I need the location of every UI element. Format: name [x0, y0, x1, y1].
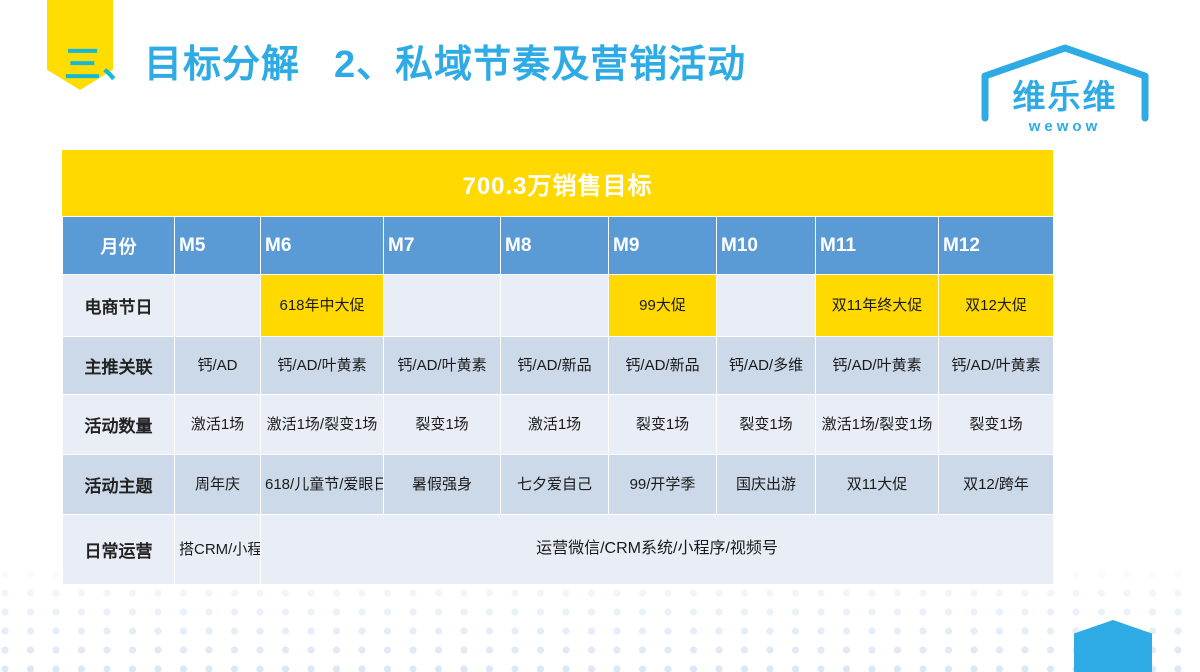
- table-row: 活动数量 激活1场 激活1场/裂变1场 裂变1场 激活1场 裂变1场 裂变1场 …: [63, 395, 1054, 455]
- cell-theme-m12: 双12/跨年: [939, 455, 1054, 515]
- cell-count-m12: 裂变1场: [939, 395, 1054, 455]
- cell-theme-m7: 暑假强身: [384, 455, 501, 515]
- table-row: 主推关联 钙/AD 钙/AD/叶黄素 钙/AD/叶黄素 钙/AD/新品 钙/AD…: [63, 337, 1054, 395]
- page-title: 三、 目标分解 2、私域节奏及营销活动: [64, 33, 746, 88]
- cell-festival-m6: 618年中大促: [261, 275, 384, 337]
- cell-count-m6: 激活1场/裂变1场: [261, 395, 384, 455]
- column-header-m8: M8: [501, 217, 609, 275]
- cell-theme-m10: 国庆出游: [717, 455, 816, 515]
- house-mark-decoration: [1074, 620, 1152, 672]
- table-header-row: 月份 M5 M6 M7 M8 M9 M10 M11 M12: [63, 217, 1054, 275]
- column-header-m5: M5: [175, 217, 261, 275]
- cell-festival-m8: [501, 275, 609, 337]
- row-label-main-product: 主推关联: [63, 337, 175, 395]
- column-header-m10: M10: [717, 217, 816, 275]
- schedule-table-container: 700.3万销售目标 月份 M5 M6 M7 M8 M9 M10 M11 M12…: [62, 150, 1053, 585]
- cell-count-m9: 裂变1场: [609, 395, 717, 455]
- cell-theme-m9: 99/开学季: [609, 455, 717, 515]
- row-label-daily-operation: 日常运营: [63, 515, 175, 585]
- section-subtitle: 2、私域节奏及营销活动: [334, 33, 746, 88]
- cell-festival-m5: [175, 275, 261, 337]
- column-header-m9: M9: [609, 217, 717, 275]
- cell-product-m7: 钙/AD/叶黄素: [384, 337, 501, 395]
- cell-theme-m5: 周年庆: [175, 455, 261, 515]
- column-header-m11: M11: [816, 217, 939, 275]
- cell-festival-m11: 双11年终大促: [816, 275, 939, 337]
- marketing-schedule-table: 月份 M5 M6 M7 M8 M9 M10 M11 M12 电商节日 618年中…: [62, 216, 1054, 585]
- cell-product-m8: 钙/AD/新品: [501, 337, 609, 395]
- section-number: 三、: [64, 34, 140, 88]
- cell-count-m11: 激活1场/裂变1场: [816, 395, 939, 455]
- cell-ops-m5: 搭CRM/小程序: [175, 515, 261, 585]
- cell-count-m7: 裂变1场: [384, 395, 501, 455]
- cell-product-m12: 钙/AD/叶黄素: [939, 337, 1054, 395]
- column-header-month-label: 月份: [63, 217, 175, 275]
- cell-festival-m10: [717, 275, 816, 337]
- table-row: 日常运营 搭CRM/小程序 运营微信/CRM系统/小程序/视频号: [63, 515, 1054, 585]
- logo-brand-en: wewow: [975, 118, 1155, 135]
- cell-ops-merged: 运营微信/CRM系统/小程序/视频号: [261, 515, 1054, 585]
- logo-brand-cn: 维乐维: [975, 70, 1155, 118]
- sales-target-text: 700.3万销售目标: [462, 166, 652, 201]
- cell-theme-m6: 618/儿童节/爱眼日: [261, 455, 384, 515]
- table-row: 活动主题 周年庆 618/儿童节/爱眼日 暑假强身 七夕爱自己 99/开学季 国…: [63, 455, 1054, 515]
- sales-target-banner: 700.3万销售目标: [62, 150, 1053, 216]
- cell-festival-m9: 99大促: [609, 275, 717, 337]
- cell-count-m8: 激活1场: [501, 395, 609, 455]
- cell-product-m9: 钙/AD/新品: [609, 337, 717, 395]
- column-header-m7: M7: [384, 217, 501, 275]
- column-header-m6: M6: [261, 217, 384, 275]
- cell-product-m5: 钙/AD: [175, 337, 261, 395]
- row-label-ecommerce-festival: 电商节日: [63, 275, 175, 337]
- cell-product-m10: 钙/AD/多维: [717, 337, 816, 395]
- column-header-m12: M12: [939, 217, 1054, 275]
- cell-theme-m8: 七夕爱自己: [501, 455, 609, 515]
- table-row: 电商节日 618年中大促 99大促 双11年终大促 双12大促: [63, 275, 1054, 337]
- cell-count-m10: 裂变1场: [717, 395, 816, 455]
- cell-product-m6: 钙/AD/叶黄素: [261, 337, 384, 395]
- row-label-activity-count: 活动数量: [63, 395, 175, 455]
- section-title: 目标分解: [144, 33, 300, 88]
- row-label-activity-theme: 活动主题: [63, 455, 175, 515]
- cell-festival-m12: 双12大促: [939, 275, 1054, 337]
- cell-festival-m7: [384, 275, 501, 337]
- cell-count-m5: 激活1场: [175, 395, 261, 455]
- brand-logo: 维乐维 wewow: [975, 42, 1155, 147]
- cell-theme-m11: 双11大促: [816, 455, 939, 515]
- cell-product-m11: 钙/AD/叶黄素: [816, 337, 939, 395]
